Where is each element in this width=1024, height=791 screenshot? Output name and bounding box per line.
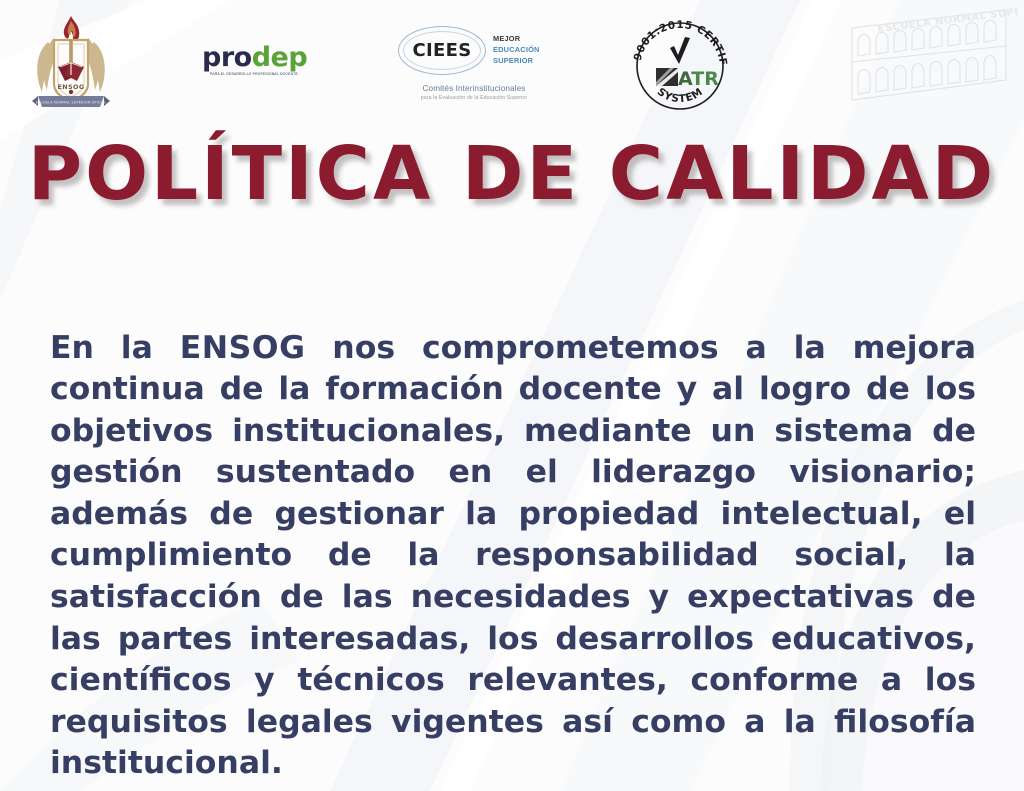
ciees-tagline-line3: SUPERIOR: [493, 56, 540, 67]
ciees-tagline-line2: EDUCACIÓN: [493, 45, 540, 56]
policy-text-ensog: ENSOG: [180, 330, 306, 366]
page-title: POLÍTICA DE CALIDAD: [0, 136, 1024, 214]
quality-policy-slide: ENSOG ESCUELA NORMAL SUPERIOR OFICIAL pr…: [0, 0, 1024, 791]
ciees-tagline-line1: MEJOR: [493, 34, 540, 45]
building-caption: ESCUELA NORMAL SUPERIOR OFICIAL: [877, 4, 1018, 35]
ciees-oval-frame: CIEES: [398, 26, 486, 75]
ciees-mark-row: CIEES MEJOR EDUCACIÓN SUPERIOR: [398, 26, 550, 75]
policy-statement: En la ENSOG nos comprometemos a la mejor…: [50, 328, 976, 785]
prodep-word-dep: dep: [252, 42, 307, 73]
svg-text:ESCUELA NORMAL SUPERIOR OFICIA: ESCUELA NORMAL SUPERIOR OFICIAL: [36, 100, 107, 104]
policy-text-rest: nos comprometemos a la mejora continua d…: [50, 330, 976, 782]
logo-strip: ENSOG ESCUELA NORMAL SUPERIOR OFICIAL pr…: [0, 0, 1024, 124]
svg-text:A: A: [678, 68, 693, 90]
ensog-crest-logo: ENSOG ESCUELA NORMAL SUPERIOR OFICIAL: [28, 12, 114, 114]
prodep-wordmark: prodep: [202, 44, 306, 71]
ciees-logo: CIEES MEJOR EDUCACIÓN SUPERIOR Comités I…: [398, 26, 550, 108]
prodep-logo: prodep PARA EL DESARROLLO PROFESIONAL DO…: [202, 44, 306, 84]
prodep-subtitle: PARA EL DESARROLLO PROFESIONAL DOCENTE: [202, 72, 306, 76]
ciees-tagline: MEJOR EDUCACIÓN SUPERIOR: [493, 34, 540, 66]
school-building-watermark: ESCUELA NORMAL SUPERIOR OFICIAL: [838, 4, 1018, 118]
ciees-subtitle-line2: para la Evaluación de la Educación Super…: [398, 95, 550, 101]
iso-9001-seal: ISO 9001:2015 CERTIFIED SYSTEM ATR A: [626, 10, 734, 118]
ciees-wordmark: CIEES: [413, 40, 472, 61]
prodep-word-pro: pro: [202, 42, 252, 73]
policy-text-lead: En la: [50, 330, 180, 366]
ciees-subtitle-line1: Comités Interinstitucionales: [398, 84, 550, 93]
